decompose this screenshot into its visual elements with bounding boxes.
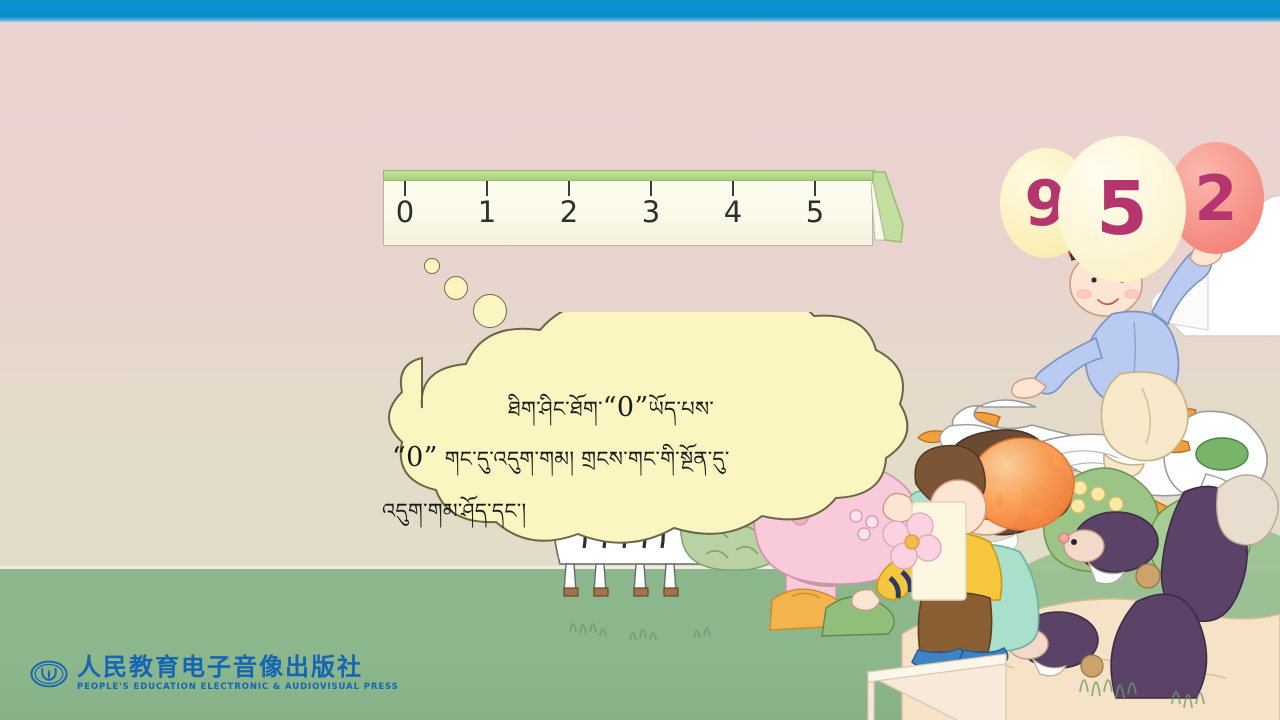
balloon-5-label: 5 bbox=[1058, 136, 1186, 282]
ruler-label-1: 1 bbox=[478, 195, 496, 229]
publisher-logo-icon bbox=[30, 659, 68, 689]
balloon-5: 5 bbox=[1058, 136, 1186, 282]
thought-dot-small bbox=[424, 258, 440, 274]
ruler-angled-tip bbox=[871, 170, 905, 246]
ruler-tick bbox=[650, 181, 652, 196]
ruler-tick bbox=[814, 181, 816, 196]
ruler-tick bbox=[404, 181, 406, 196]
line2-seg5: གྲངས་གང་གི་སྔོན་དུ་ bbox=[581, 447, 729, 471]
ruler-label-0: 0 bbox=[396, 195, 414, 229]
line2-seg4: གང་དུ་འདུག་གམ། bbox=[445, 447, 575, 471]
bubble-line-2: “0” གང་དུ་འདུག་གམ། གྲངས་གང་གི་སྔོན་དུ་ bbox=[392, 436, 730, 495]
ruler: 0 1 2 3 4 5 bbox=[383, 170, 908, 248]
line1-close-quote: ” bbox=[634, 392, 648, 423]
line1-open-quote: “ bbox=[603, 392, 617, 423]
line1-seg1: ཐིག་ཤིང་ཐོག་ bbox=[508, 397, 603, 421]
line1-seg5: ཡོད་པས་ bbox=[649, 397, 715, 421]
publisher-logo-text: 人民教育电子音像出版社 PEOPLE'S EDUCATION ELECTRONI… bbox=[77, 655, 399, 692]
ruler-tick bbox=[486, 181, 488, 196]
publisher-name-english: PEOPLE'S EDUCATION ELECTRONIC & AUDIOVIS… bbox=[77, 682, 399, 692]
thought-dot-medium bbox=[444, 276, 468, 300]
bubble-text-block: ཐིག་ཤིང་ཐོག་“0”ཡོད་པས་ “0” གང་དུ་འདུག་གམ… bbox=[330, 312, 980, 547]
top-blue-bar bbox=[0, 0, 1280, 22]
ruler-tick bbox=[732, 181, 734, 196]
line3-seg1: འདུག་གམ་ཤོད་དང་། bbox=[382, 499, 526, 523]
ruler-tick bbox=[568, 181, 570, 196]
line2-close-quote: ” bbox=[424, 442, 438, 473]
bubble-line-3: འདུག་གམ་ཤོད་དང་། bbox=[382, 488, 526, 547]
ruler-label-3: 3 bbox=[642, 195, 660, 229]
ruler-ticks: 0 1 2 3 4 5 bbox=[383, 181, 873, 246]
ruler-top-edge bbox=[383, 170, 875, 181]
publisher-logo: 人民教育电子音像出版社 PEOPLE'S EDUCATION ELECTRONI… bbox=[30, 655, 399, 692]
thought-bubble: ཐིག་ཤིང་ཐོག་“0”ཡོད་པས་ “0” གང་དུ་འདུག་གམ… bbox=[330, 312, 980, 547]
line2-zero: 0 bbox=[406, 442, 423, 473]
ruler-label-4: 4 bbox=[724, 195, 742, 229]
line2-open-quote: “ bbox=[392, 442, 406, 473]
line1-zero: 0 bbox=[617, 392, 634, 423]
ruler-label-2: 2 bbox=[560, 195, 578, 229]
publisher-name-chinese: 人民教育电子音像出版社 bbox=[77, 655, 399, 680]
ruler-label-5: 5 bbox=[806, 195, 824, 229]
slide-canvas: 0 1 2 3 4 5 ཐིག་ཤིང་ཐོག་“0”ཡོད་པས་ “0” ག… bbox=[0, 0, 1280, 720]
